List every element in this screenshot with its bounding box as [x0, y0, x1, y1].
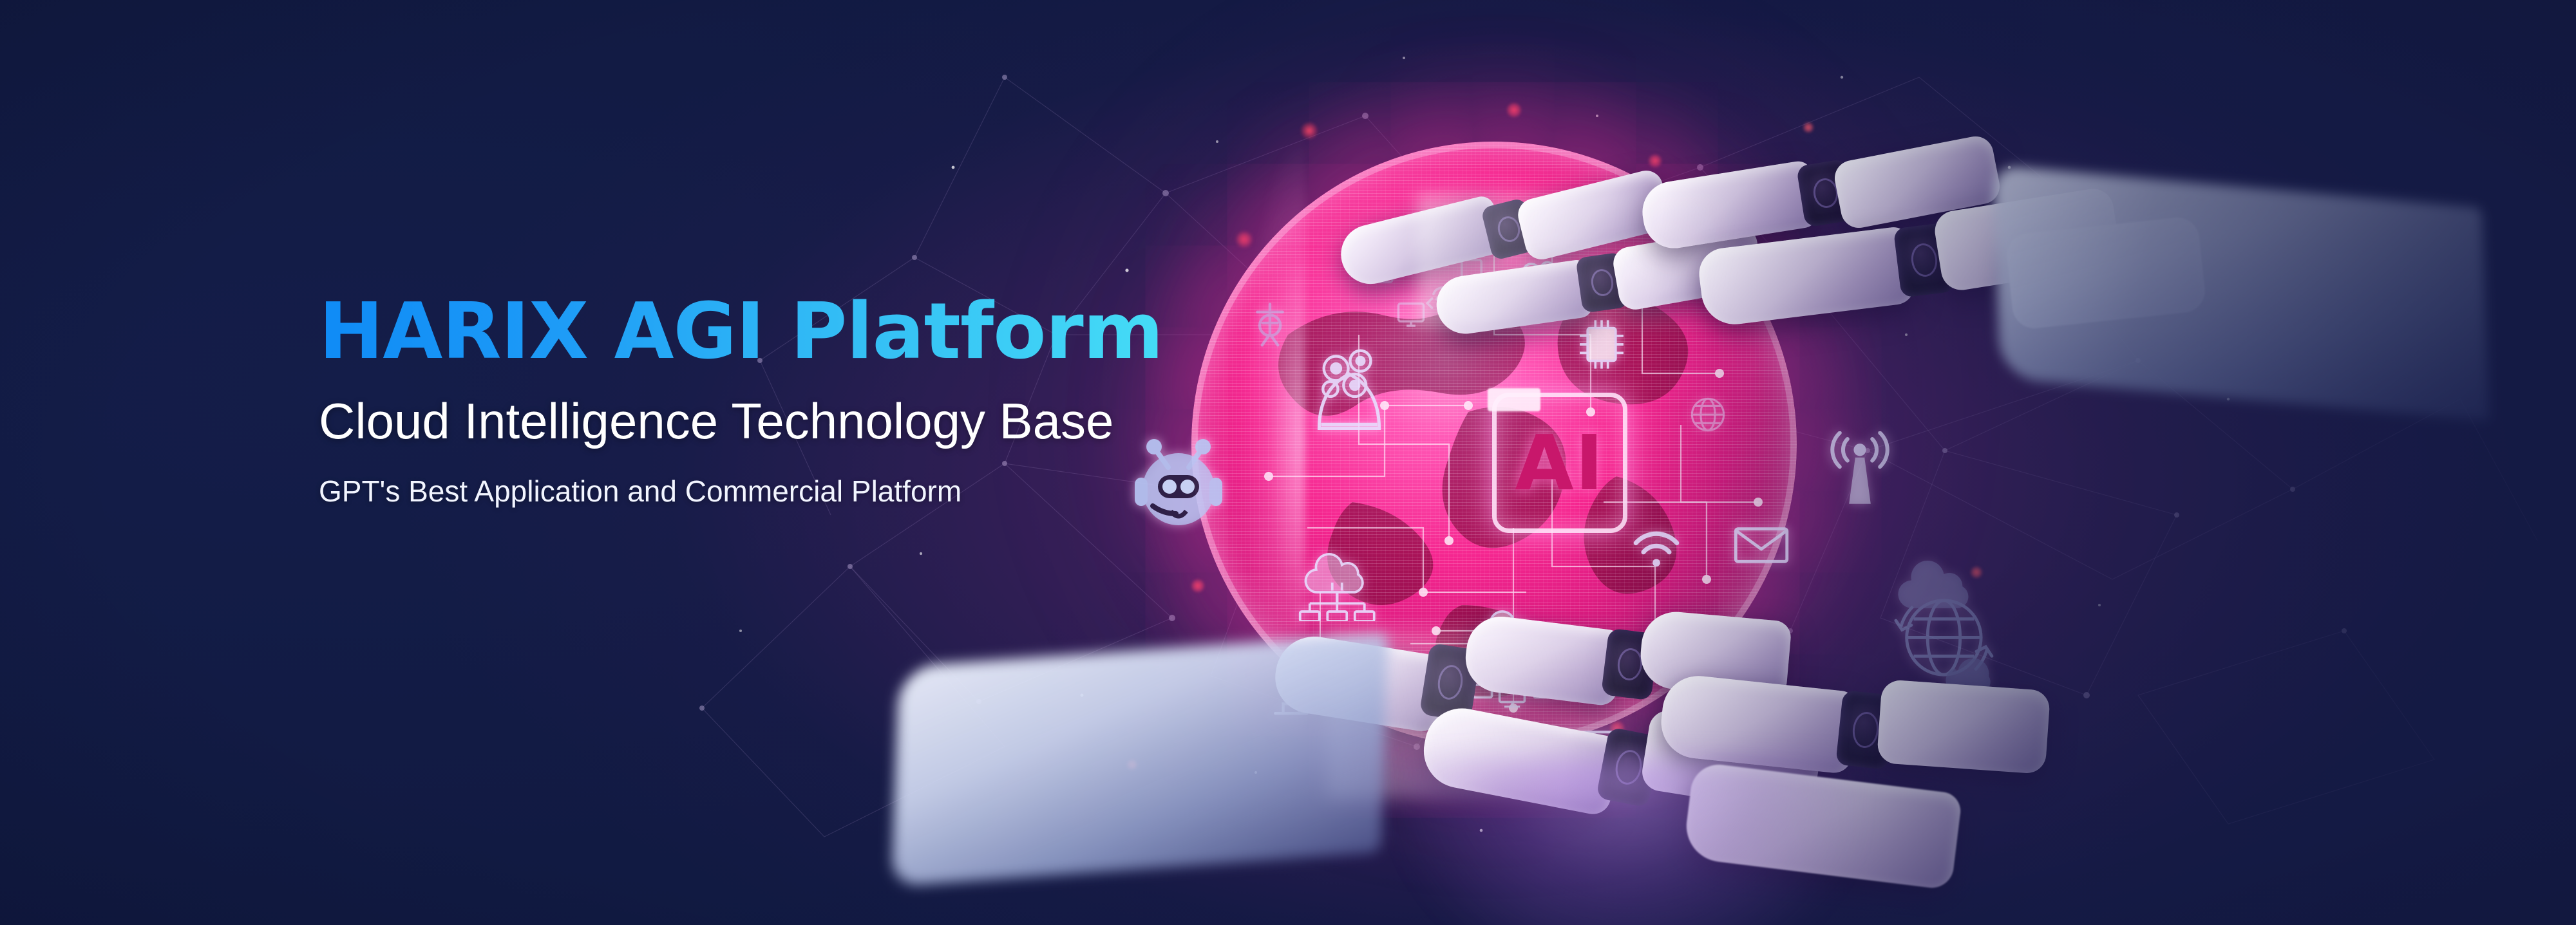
page-title: HARIX AGI Platform	[319, 294, 1163, 371]
hero-tagline: GPT's Best Application and Commercial Pl…	[319, 475, 1163, 508]
hero-copy: HARIX AGI Platform Cloud Intelligence Te…	[319, 294, 1163, 507]
hero-banner: AI	[0, 0, 2576, 925]
hero-subtitle: Cloud Intelligence Technology Base	[319, 395, 1163, 448]
